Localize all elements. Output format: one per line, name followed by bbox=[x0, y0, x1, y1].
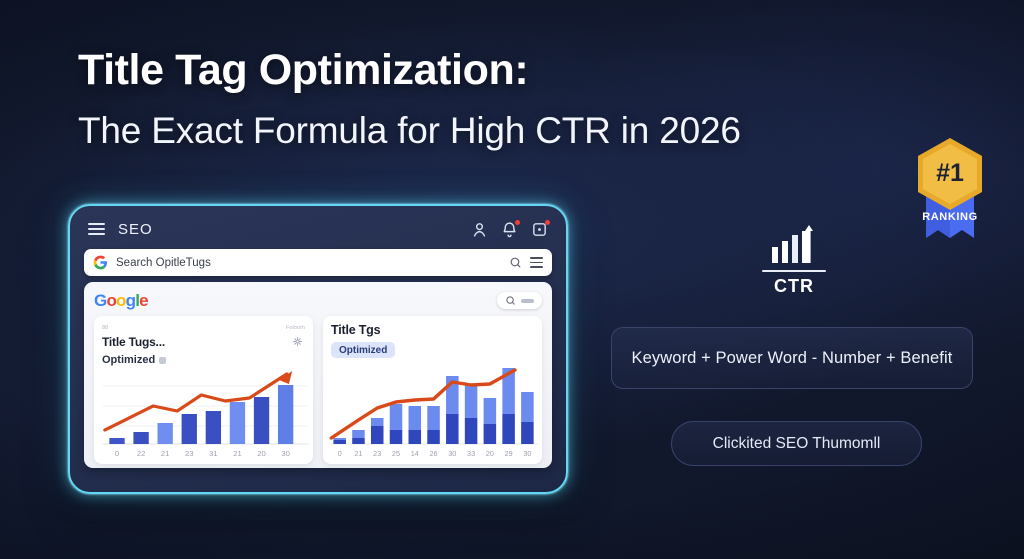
svg-text:31: 31 bbox=[209, 449, 218, 458]
ranking-badge: #1 RANKING bbox=[908, 134, 992, 242]
message-dot bbox=[545, 220, 550, 225]
headline-primary: Title Tag Optimization: bbox=[78, 46, 741, 94]
serp-panel: Google 88 Fotoorh Title Tugs... bbox=[84, 282, 552, 468]
svg-text:30: 30 bbox=[448, 450, 456, 458]
browser-mockup: SEO bbox=[68, 204, 568, 494]
card-title: Title Tugs... bbox=[102, 335, 305, 349]
svg-text:22: 22 bbox=[137, 449, 146, 458]
google-g-icon bbox=[93, 255, 108, 270]
svg-text:0: 0 bbox=[338, 450, 342, 458]
panel-search-pill[interactable] bbox=[497, 292, 542, 309]
svg-text:20: 20 bbox=[257, 449, 266, 458]
card-meta-row: 88 Fotoorh bbox=[102, 323, 305, 332]
svg-text:25: 25 bbox=[392, 450, 400, 458]
svg-text:26: 26 bbox=[429, 450, 437, 458]
search-icon bbox=[505, 295, 516, 306]
result-card-list: 88 Fotoorh Title Tugs... Optimized bbox=[94, 316, 542, 464]
result-card-right[interactable]: Title Tgs Optimized bbox=[323, 316, 542, 464]
sparkle-icon bbox=[292, 336, 303, 347]
badge-ribbon-text: RANKING bbox=[922, 211, 978, 223]
svg-text:30: 30 bbox=[281, 449, 290, 458]
bar-chart-rising-icon bbox=[760, 225, 828, 265]
ctr-block: CTR bbox=[760, 225, 828, 297]
card-badge-row: Optimized bbox=[102, 354, 305, 366]
notification-bell-icon[interactable] bbox=[501, 221, 518, 238]
card-badge-row: Optimized bbox=[331, 342, 534, 358]
svg-text:20: 20 bbox=[486, 450, 494, 458]
message-square-icon[interactable] bbox=[531, 221, 548, 238]
ctr-label: CTR bbox=[760, 276, 828, 297]
search-bar[interactable]: Search OpitleTugs bbox=[84, 249, 552, 276]
svg-text:21: 21 bbox=[161, 449, 170, 458]
google-logo: Google bbox=[94, 292, 148, 309]
svg-text:23: 23 bbox=[373, 450, 381, 458]
blurred-glyph bbox=[159, 357, 166, 364]
serp-panel-header: Google bbox=[94, 291, 542, 310]
hamburger-icon[interactable] bbox=[88, 223, 105, 235]
browser-topbar: SEO bbox=[80, 214, 556, 244]
headline-block: Title Tag Optimization: The Exact Formul… bbox=[78, 46, 741, 153]
svg-text:30: 30 bbox=[523, 450, 531, 458]
chart-right: 02123 251426 303320 2930 bbox=[323, 368, 542, 464]
svg-text:14: 14 bbox=[411, 450, 419, 458]
ctr-divider bbox=[762, 270, 826, 272]
svg-text:21: 21 bbox=[233, 449, 242, 458]
formula-box: Keyword + Power Word - Number + Benefit bbox=[611, 327, 973, 389]
svg-text:23: 23 bbox=[185, 449, 194, 458]
result-card-left[interactable]: 88 Fotoorh Title Tugs... Optimized bbox=[94, 316, 313, 464]
topbar-icon-group bbox=[471, 221, 548, 238]
svg-text:29: 29 bbox=[505, 450, 513, 458]
cta-label: Clickited SEO Thumomll bbox=[713, 435, 881, 453]
notification-dot bbox=[515, 220, 520, 225]
list-menu-icon[interactable] bbox=[530, 257, 543, 267]
svg-text:21: 21 bbox=[354, 450, 362, 458]
poster-canvas: Title Tag Optimization: The Exact Formul… bbox=[0, 0, 1024, 559]
badge-rank-text: #1 bbox=[936, 159, 964, 187]
headline-secondary: The Exact Formula for High CTR in 2026 bbox=[78, 110, 741, 153]
search-icon[interactable] bbox=[509, 256, 522, 269]
svg-text:0: 0 bbox=[115, 449, 119, 458]
card-meta-left: 88 bbox=[102, 325, 108, 331]
app-brand-label: SEO bbox=[118, 221, 153, 238]
card-meta-right: Fotoorh bbox=[286, 325, 305, 331]
status-badge: Optimized bbox=[102, 354, 155, 366]
formula-text: Keyword + Power Word - Number + Benefit bbox=[632, 349, 953, 368]
card-title: Title Tgs bbox=[331, 323, 534, 337]
svg-text:33: 33 bbox=[467, 450, 475, 458]
blurred-text-placeholder bbox=[521, 299, 534, 303]
cta-button[interactable]: Clickited SEO Thumomll bbox=[671, 421, 922, 466]
account-icon[interactable] bbox=[471, 221, 488, 238]
search-input[interactable]: Search OpitleTugs bbox=[116, 257, 501, 269]
ranking-badge-icon: #1 RANKING bbox=[908, 134, 992, 242]
chart-left: 02221 233121 2030 bbox=[94, 368, 313, 464]
status-badge: Optimized bbox=[331, 342, 395, 358]
